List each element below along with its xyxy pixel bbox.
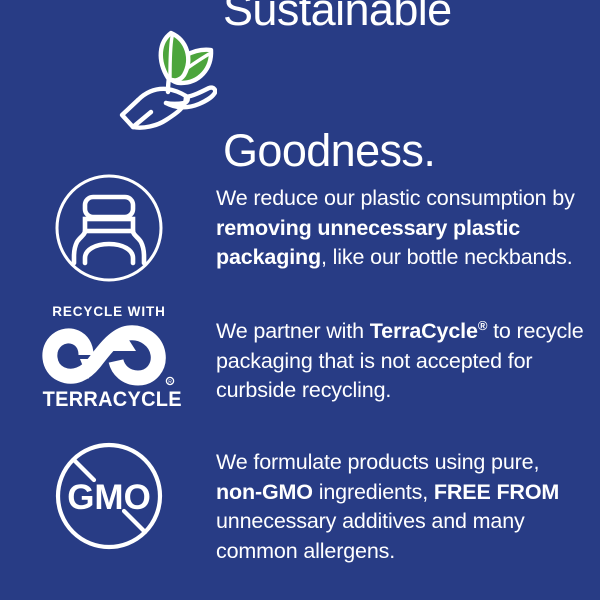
benefit-icon-cell <box>0 172 216 284</box>
text-seg: , like our bottle neckbands. <box>321 245 573 269</box>
svg-text:R: R <box>168 380 172 386</box>
benefit-row-plastic: We reduce our plastic consumption by rem… <box>0 172 600 284</box>
text-seg: We formulate products using pure, <box>216 450 539 474</box>
text-seg: ingredients, <box>313 480 434 504</box>
page-title-line-2: Goodness. <box>223 127 452 174</box>
hand-holding-sprout-icon <box>113 30 217 130</box>
text-seg-bold: non-GMO <box>216 480 313 504</box>
benefit-text-gmo: We formulate products using pure, non-GM… <box>216 438 600 566</box>
text-seg-bold: FREE FROM <box>434 480 559 504</box>
benefit-row-terracycle: RECYCLE WITH R TERRACYCLE We part <box>0 303 600 421</box>
page-title-line-1: Sustainable <box>223 0 452 33</box>
terracycle-logo: RECYCLE WITH R TERRACYCLE <box>39 304 179 420</box>
bottle-neckband-circle-icon <box>54 173 164 283</box>
no-gmo-circle-icon: GMO <box>54 441 164 551</box>
header: Sustainable Goodness. <box>0 24 600 136</box>
text-seg: We reduce our plastic consumption by <box>216 186 575 210</box>
terracycle-bottom-label: TERRACYCLE <box>43 388 182 412</box>
registered-mark: ® <box>478 318 487 333</box>
benefit-text-plastic: We reduce our plastic consumption by rem… <box>216 172 600 273</box>
benefit-row-gmo: GMO We formulate products using pure, no… <box>0 438 600 566</box>
text-seg: unnecessary additives and many common al… <box>216 509 525 563</box>
sustainability-infographic: Sustainable Goodness. We reduce our plas… <box>0 0 600 600</box>
benefit-icon-cell: GMO <box>0 438 216 554</box>
infinity-recycle-arrows-icon: R <box>42 323 176 387</box>
text-seg-bold: TerraCycle <box>370 319 478 343</box>
benefit-text-terracycle: We partner with TerraCycle® to recycle p… <box>216 303 600 406</box>
gmo-label: GMO <box>67 478 151 517</box>
terracycle-top-label: RECYCLE WITH <box>52 304 166 320</box>
benefit-icon-cell: RECYCLE WITH R TERRACYCLE <box>0 303 216 421</box>
text-seg: We partner with <box>216 319 370 343</box>
